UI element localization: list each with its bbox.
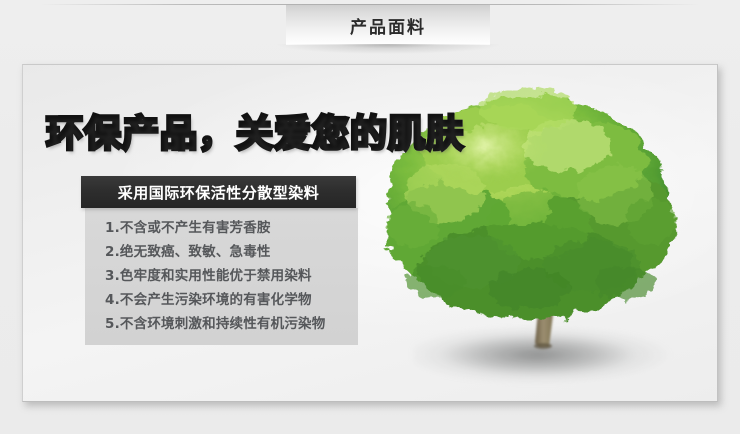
list-item: 4.不会产生污染环境的有害化学物	[85, 288, 358, 312]
section-title-plate: 产品面料	[286, 5, 490, 45]
subheading-bar: 采用国际环保活性分散型染料	[81, 176, 356, 208]
section-header: 产品面料	[0, 0, 740, 52]
list-item: 1.不含或不产生有害芳香胺	[85, 216, 358, 240]
hero-panel: 环保产品，关爱您的肌肤 1.不含或不产生有害芳香胺 2.绝无致癌、致敏、急毒性 …	[22, 64, 718, 402]
list-item: 2.绝无致癌、致敏、急毒性	[85, 240, 358, 264]
list-item: 3.色牢度和实用性能优于禁用染料	[85, 264, 358, 288]
section-title-text: 产品面料	[350, 13, 426, 38]
product-fabric-page: 产品面料	[0, 0, 740, 434]
feature-list-box: 1.不含或不产生有害芳香胺 2.绝无致癌、致敏、急毒性 3.色牢度和实用性能优于…	[85, 208, 358, 345]
hero-headline: 环保产品，关爱您的肌肤	[46, 115, 464, 152]
subheading-text: 采用国际环保活性分散型染料	[118, 182, 320, 203]
section-title-plate-shadow	[276, 44, 500, 54]
list-item: 5.不含环境刺激和持续性有机污染物	[85, 312, 358, 336]
